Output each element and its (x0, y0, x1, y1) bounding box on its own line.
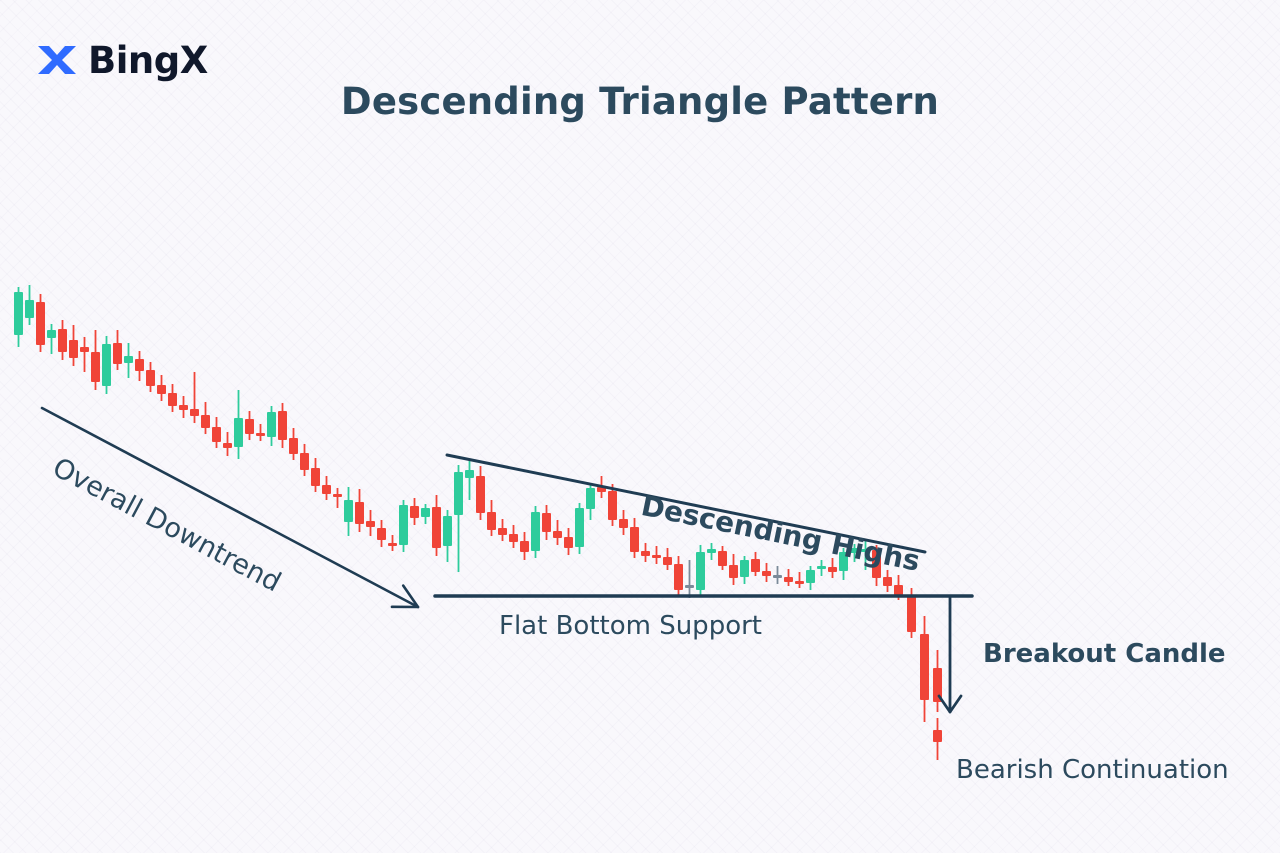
candle-body (806, 570, 815, 583)
candle-body (344, 500, 353, 522)
candle-body (773, 575, 782, 578)
candle-body (333, 494, 342, 497)
candle-body (465, 470, 474, 478)
candle-body (454, 472, 463, 515)
candle-body (817, 566, 826, 569)
candle-body (740, 560, 749, 577)
candle-body (619, 519, 628, 528)
candle-body (509, 534, 518, 542)
annotation-bearish-continuation: Bearish Continuation (956, 755, 1229, 785)
candle-body (377, 528, 386, 540)
candle-body (564, 537, 573, 548)
candle-body (267, 412, 276, 437)
candle-body (707, 549, 716, 553)
candle-body (58, 329, 67, 352)
candle-body (245, 419, 254, 434)
annotation-breakout-candle: Breakout Candle (983, 639, 1226, 669)
candle-body (25, 300, 34, 318)
candle-body (223, 443, 232, 448)
candle-body (201, 415, 210, 428)
candle-body (80, 347, 89, 352)
candle-body (146, 370, 155, 386)
candle-body (91, 352, 100, 382)
candle-body (487, 512, 496, 530)
candle-body (190, 409, 199, 416)
candle-body (920, 634, 929, 700)
candle-body (542, 513, 551, 532)
annotation-flat-bottom-support: Flat Bottom Support (499, 611, 762, 641)
candle-body (641, 551, 650, 556)
candle-body (135, 359, 144, 371)
candle-body (729, 565, 738, 578)
candle-body (531, 512, 540, 551)
candle-body (933, 730, 942, 742)
candlestick-chart (0, 0, 1280, 853)
candle-body (234, 418, 243, 447)
candle-body (212, 427, 221, 442)
candle-body (907, 596, 916, 632)
candle-body (113, 343, 122, 364)
candle-body (751, 559, 760, 572)
candle-body (652, 555, 661, 558)
candle-body (168, 393, 177, 406)
candle-body (124, 356, 133, 363)
candle-body (586, 488, 595, 509)
candle-body (289, 438, 298, 454)
candle-body (157, 385, 166, 394)
candle-body (432, 507, 441, 548)
candle-body (784, 577, 793, 582)
candle-body (443, 516, 452, 546)
candle-body (366, 521, 375, 527)
candle-body (69, 340, 78, 358)
candle-body (256, 433, 265, 436)
candle-body (388, 543, 397, 546)
candle-body (278, 411, 287, 440)
candle-body (102, 344, 111, 386)
candle-body (553, 531, 562, 538)
infographic-stage: BingX Descending Triangle Pattern Overal… (0, 0, 1280, 853)
candle-body (399, 505, 408, 545)
candle-body (663, 557, 672, 565)
candle-body (36, 302, 45, 345)
candle-body (894, 585, 903, 595)
candle-body (476, 476, 485, 513)
candle-body (300, 453, 309, 470)
candle-body (883, 577, 892, 586)
candle-body (762, 571, 771, 576)
candle-body (498, 528, 507, 535)
candle-body (674, 564, 683, 590)
candle-body (322, 485, 331, 494)
candle-body (14, 292, 23, 335)
candle-body (795, 581, 804, 584)
candle-body (828, 567, 837, 572)
candle-body (410, 506, 419, 518)
candle-body (421, 508, 430, 517)
candle-body (179, 405, 188, 410)
candle-body (696, 552, 705, 590)
candle-body (520, 541, 529, 552)
candle-body (47, 330, 56, 338)
candle-body (718, 551, 727, 566)
candle-body (630, 527, 639, 552)
candle-body (685, 585, 694, 588)
candle-body (311, 468, 320, 486)
candle-body (355, 502, 364, 524)
candle-body (608, 491, 617, 520)
candle-body (575, 508, 584, 547)
